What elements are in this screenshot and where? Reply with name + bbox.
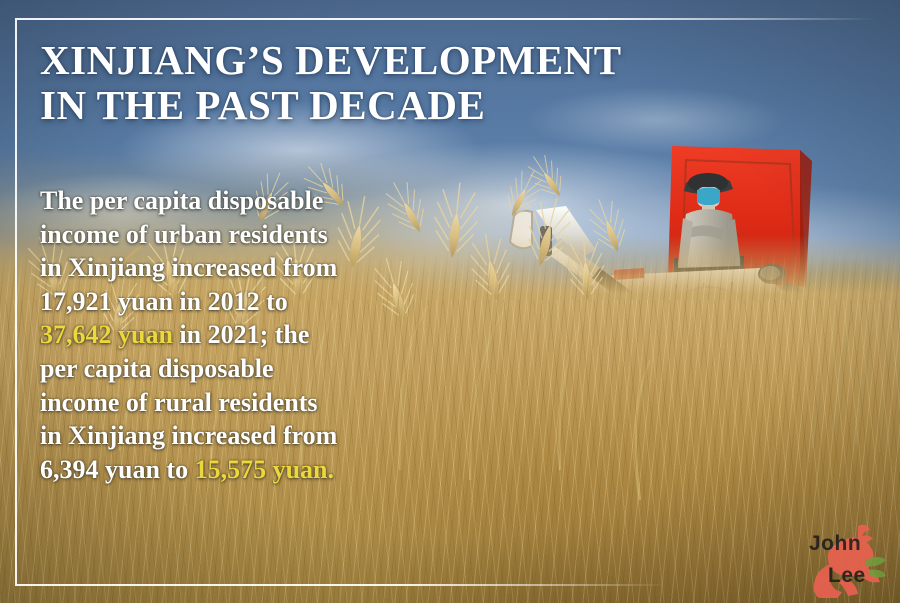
headline-line-2: IN THE PAST DECADE [40,83,640,128]
headline: XINJIANG’S DEVELOPMENT IN THE PAST DECAD… [40,38,640,128]
body-paragraph: The per capita disposable income of urba… [40,184,340,486]
headline-line-1: XINJIANG’S DEVELOPMENT [40,37,622,83]
watermark-line-2: Lee [828,564,866,588]
body-segment-1: The per capita disposable income of urba… [40,186,337,316]
watermark: John Lee [800,520,895,598]
poster-root: XINJIANG’S DEVELOPMENT IN THE PAST DECAD… [0,0,900,603]
watermark-line-1: John [809,532,861,556]
highlight-urban-income: 37,642 yuan [40,320,173,349]
highlight-rural-income: 15,575 yuan. [195,455,334,484]
